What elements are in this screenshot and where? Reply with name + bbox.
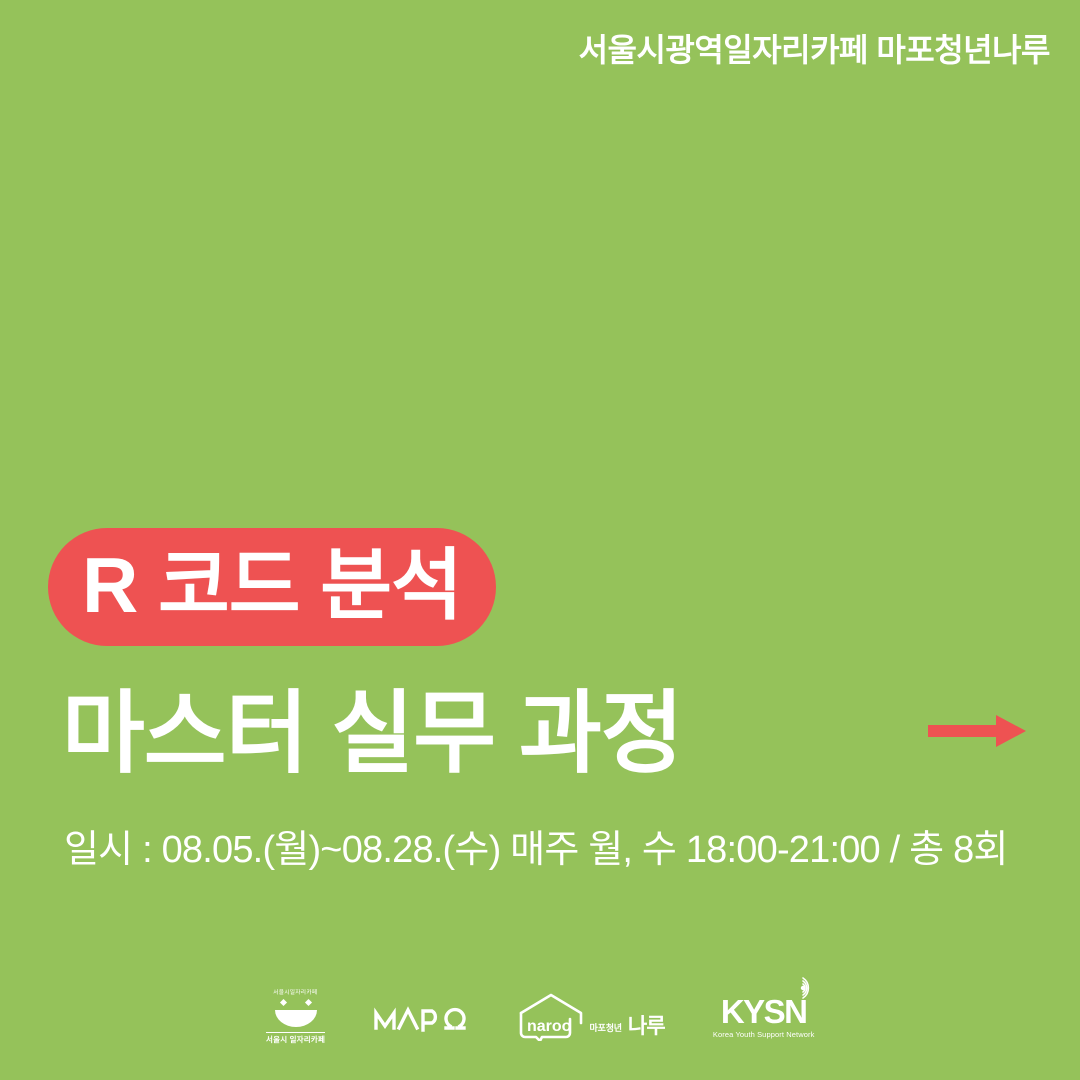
- logo-naroo-subname: 나루: [628, 1016, 665, 1037]
- arrow-right-icon: [928, 702, 1028, 760]
- logo-strip: 서울시일자리카페 서울시 일자리카페: [0, 980, 1080, 1054]
- logo-seoul-job-cafe: 서울시일자리카페 서울시 일자리카페: [266, 990, 326, 1044]
- page-title: 마스터 실무 과정: [62, 684, 683, 785]
- logo-mapo: [374, 1002, 470, 1032]
- logo-naroo: naroo 마포청년 나루: [518, 993, 665, 1041]
- header-organization-label: 서울시광역일자리카페 마포청년나루: [579, 30, 1050, 70]
- smile-bowl-icon: [273, 999, 319, 1029]
- house-speech-bubble-icon: naroo: [518, 993, 584, 1041]
- promo-poster: 서울시광역일자리카페 마포청년나루 R 코드 분석 마스터 실무 과정 일시 :…: [0, 0, 1080, 1080]
- logo-kysn: KYSN Korea Youth Support Network: [713, 995, 815, 1039]
- mapo-wordmark-icon: [374, 1002, 470, 1032]
- logo-naroo-wordmark: naroo: [527, 1018, 572, 1035]
- schedule-text: 일시 : 08.05.(월)~08.28.(수) 매주 월, 수 18:00-2…: [64, 828, 1038, 874]
- title-block: R 코드 분석 마스터 실무 과정 일시 : 08.05.(월)~08.28.(…: [48, 528, 1038, 874]
- logo-seoul-name: 서울시 일자리카페: [266, 1032, 325, 1044]
- badge-row: R 코드 분석: [48, 528, 1038, 646]
- logo-kysn-subtitle: Korea Youth Support Network: [713, 1031, 815, 1039]
- logo-naroo-tagline: 마포청년: [590, 1024, 622, 1033]
- logo-seoul-top-text: 서울시일자리카페: [273, 990, 317, 996]
- signal-wave-icon: [790, 976, 816, 1000]
- headline-row: 마스터 실무 과정: [48, 684, 1038, 794]
- course-topic-badge: R 코드 분석: [48, 528, 496, 646]
